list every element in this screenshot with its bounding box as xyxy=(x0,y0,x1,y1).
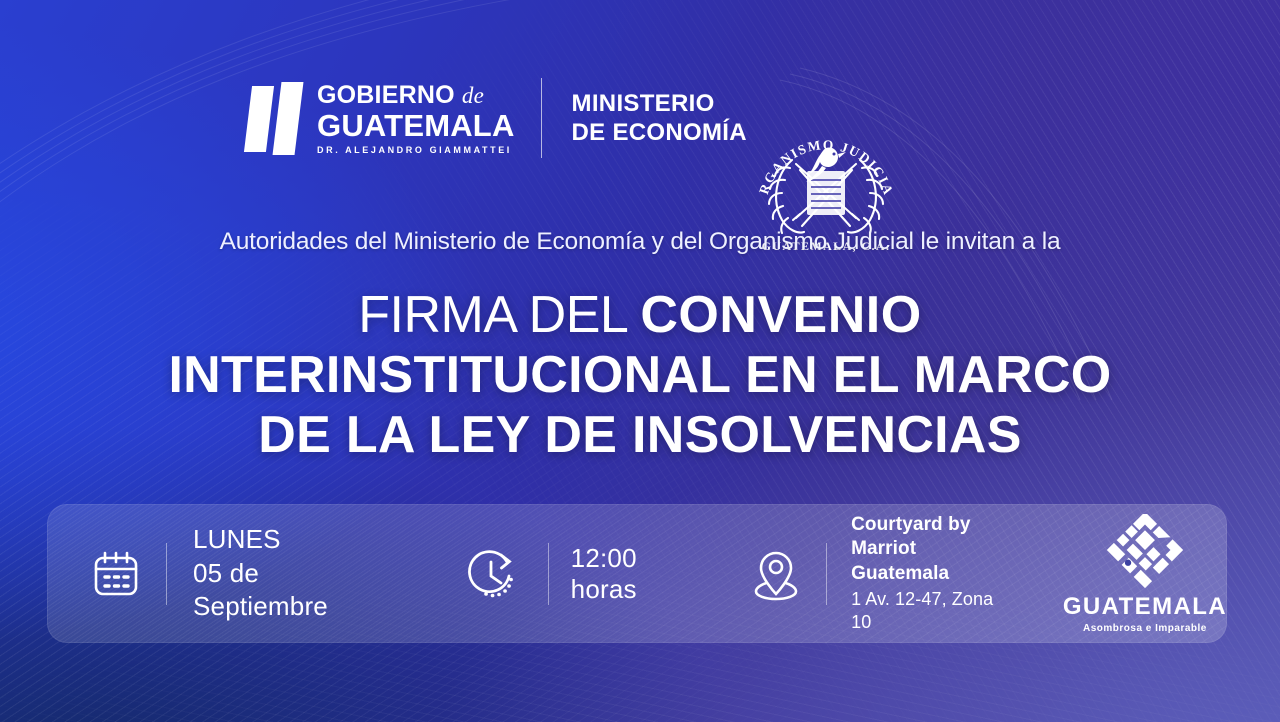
event-details-card: LUNES 05 de Septiembre 12:00 horas xyxy=(47,504,1227,643)
guatemala-brand-name: GUATEMALA xyxy=(1063,593,1227,621)
title-line-2: INTERINSTITUCIONAL EN EL MARCO xyxy=(0,348,1280,402)
gobierno-wordmark: GOBIERNO de GUATEMALA DR. ALEJANDRO GIAM… xyxy=(317,81,515,155)
title-line-1: FIRMA DEL CONVENIO xyxy=(0,288,1280,342)
date-divider xyxy=(166,543,167,605)
date-day-name: LUNES xyxy=(193,523,394,557)
invitation-subtitle: Autoridades del Ministerio de Economía y… xyxy=(0,228,1280,256)
place-address: 1 Av. 12-47, Zona 10 xyxy=(851,588,1013,635)
guatemala-brand-tagline: Asombrosa e Imparable xyxy=(1083,623,1207,634)
ministry-wordmark: MINISTERIO DE ECONOMÍA xyxy=(572,89,747,148)
event-time-block: 12:00 horas xyxy=(464,504,704,643)
ministry-line2: DE ECONOMÍA xyxy=(572,118,747,147)
place-text: Courtyard by Marriot Guatemala 1 Av. 12-… xyxy=(851,513,1013,635)
place-divider xyxy=(826,543,827,605)
title-line-3: DE LA LEY DE INSOLVENCIAS xyxy=(0,408,1280,462)
clock-icon xyxy=(464,546,526,602)
gobierno-mark-icon xyxy=(248,82,299,155)
time-value: 12:00 horas xyxy=(571,543,704,605)
poster-header: GOBIERNO de GUATEMALA DR. ALEJANDRO GIAM… xyxy=(0,60,1280,205)
guatemala-tourism-brand-block: GUATEMALA Asombrosa e Imparable xyxy=(1063,504,1227,643)
guatemala-brand: GUATEMALA Asombrosa e Imparable xyxy=(1063,514,1227,634)
event-invitation-poster: GOBIERNO de GUATEMALA DR. ALEJANDRO GIAM… xyxy=(0,0,1280,722)
event-title: FIRMA DEL CONVENIO INTERINSTITUCIONAL EN… xyxy=(0,288,1280,462)
title-light-part: FIRMA DEL xyxy=(358,286,640,344)
place-name-line1: Courtyard by xyxy=(851,513,1013,538)
calendar-icon xyxy=(88,548,144,600)
gobierno-de-italic: de xyxy=(462,83,484,108)
logo-divider xyxy=(541,78,542,158)
event-place-block: Courtyard by Marriot Guatemala 1 Av. 12-… xyxy=(748,504,1013,643)
gobierno-line1: GOBIERNO de xyxy=(317,83,515,108)
gobierno-president-name: DR. ALEJANDRO GIAMMATTEI xyxy=(317,146,515,155)
title-bold-part: CONVENIO xyxy=(640,286,921,344)
government-logo-block: GOBIERNO de GUATEMALA DR. ALEJANDRO GIAM… xyxy=(248,78,747,158)
guatemala-diamond-logo-icon xyxy=(1103,514,1187,590)
place-name-line2: Marriot Guatemala xyxy=(851,537,1013,586)
event-date-block: LUNES 05 de Septiembre xyxy=(47,504,394,643)
time-divider xyxy=(548,543,549,605)
location-pin-icon xyxy=(748,546,804,602)
gobierno-line2: GUATEMALA xyxy=(317,110,515,141)
date-text: LUNES 05 de Septiembre xyxy=(193,523,394,624)
ministry-line1: MINISTERIO xyxy=(572,89,747,118)
date-day-value: 05 de Septiembre xyxy=(193,557,394,625)
